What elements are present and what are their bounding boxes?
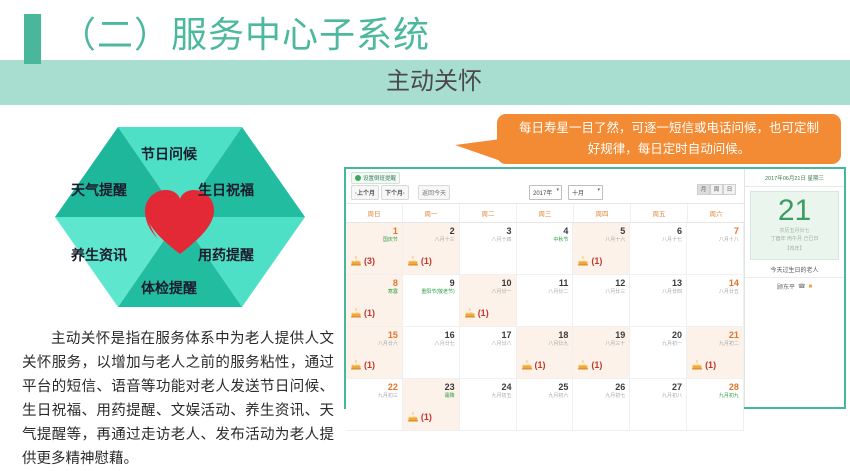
today-button[interactable]: 返回今天 xyxy=(418,185,450,200)
birthday-event[interactable]: (1) xyxy=(577,360,602,371)
birthday-count: (1) xyxy=(478,309,489,318)
day-number: 17 xyxy=(502,330,512,340)
calendar-day-cell[interactable]: 15八月廿六 (1) xyxy=(346,327,403,379)
calendar-day-cell[interactable]: 5八月十六 (1) xyxy=(573,223,630,275)
day-number: 8 xyxy=(393,278,398,288)
birthday-event[interactable]: (1) xyxy=(521,360,546,371)
calendar-day-cell[interactable]: 12八月廿三 xyxy=(573,275,630,327)
lunar-date-label: 寒露 xyxy=(388,289,398,295)
weekday-header-3: 周三 xyxy=(517,204,574,222)
callout-line-2: 好规律，每日定时自动问候。 xyxy=(511,139,827,160)
calendar-day-cell[interactable]: 16八月廿七 xyxy=(403,327,460,379)
lunar-date-label: 九月初五 xyxy=(492,393,512,399)
hex-label-weather-reminder: 天气提醒 xyxy=(71,180,127,200)
calendar-day-cell[interactable]: 28九月初九 xyxy=(687,379,744,431)
lunar-date-label: 霜降 xyxy=(445,393,455,399)
side-date-line: 2017年06月21日 星期三 xyxy=(745,169,844,187)
hex-label-checkup-reminder: 体检提醒 xyxy=(141,278,197,298)
birthday-count: (1) xyxy=(535,361,546,370)
day-number: 23 xyxy=(445,382,455,392)
birthday-count: (1) xyxy=(364,309,375,318)
day-number: 18 xyxy=(558,330,568,340)
calendar-day-cell[interactable]: 2八月十三 (1) xyxy=(403,223,460,275)
weekday-header-4: 周四 xyxy=(574,204,631,222)
calendar-day-cell[interactable]: 4中秋节 xyxy=(517,223,574,275)
cake-icon xyxy=(577,360,589,371)
birthday-event[interactable]: (3) xyxy=(350,256,375,267)
prev-month-button[interactable]: ·上个月 xyxy=(351,185,379,200)
weekday-header-row: 周日周一周二周三周四周五周六 xyxy=(346,203,744,223)
birthday-event[interactable]: (1) xyxy=(350,360,375,371)
view-week-button[interactable]: 周 xyxy=(710,184,723,195)
day-number: 7 xyxy=(734,226,739,236)
day-number: 14 xyxy=(729,278,739,288)
calendar-day-cell[interactable]: 22九月初三 xyxy=(346,379,403,431)
day-number: 25 xyxy=(558,382,568,392)
cake-icon xyxy=(350,360,362,371)
calendar-day-cell[interactable]: 20九月初一 xyxy=(630,327,687,379)
hex-label-birthday-wish: 生日祝福 xyxy=(198,180,254,200)
weekday-header-0: 周日 xyxy=(346,204,403,222)
weekday-header-5: 周五 xyxy=(631,204,688,222)
birthday-count: (1) xyxy=(364,361,375,370)
lunar-date-label: 八月十三 xyxy=(435,237,455,243)
body-paragraph: 主动关怀是指在服务体系中为老人提供人文关怀服务，以增加与老人之前的服务粘性，通过… xyxy=(22,327,334,471)
lunar-date-label: 九月初八 xyxy=(662,393,682,399)
calendar-day-cell[interactable]: 7八月十八 xyxy=(687,223,744,275)
lunar-date-label: 八月廿二 xyxy=(548,289,568,295)
weekday-header-2: 周二 xyxy=(460,204,517,222)
lunar-date-label: 八月十八 xyxy=(719,237,739,243)
year-select[interactable]: 2017年 xyxy=(529,185,562,200)
calendar-day-cell[interactable]: 13八月廿四 xyxy=(630,275,687,327)
day-number: 21 xyxy=(729,330,739,340)
day-number: 10 xyxy=(502,278,512,288)
page-subtitle: 主动关怀 xyxy=(386,64,482,100)
calendar-day-cell[interactable]: 9重阳节(敬老节) xyxy=(403,275,460,327)
day-number: 27 xyxy=(672,382,682,392)
shift-reminder-label: 设置倒班提醒 xyxy=(363,174,396,182)
hexagon-diagram: 节日问候 天气提醒 生日祝福 养生资讯 用药提醒 体检提醒 xyxy=(55,122,305,312)
cake-icon[interactable]: ■ xyxy=(808,284,812,290)
side-birthday-row[interactable]: 顾东平 ☎ ■ xyxy=(745,282,844,291)
cake-icon xyxy=(407,256,419,267)
lunar-date-label: 八月廿七 xyxy=(435,341,455,347)
lunar-date-label: 中秋节 xyxy=(553,237,568,243)
birthday-event[interactable]: (1) xyxy=(407,412,432,423)
lunar-date-label: 八月三十 xyxy=(605,341,625,347)
lunar-date-label: 八月廿三 xyxy=(605,289,625,295)
side-birthday-title: 今天过生日的老人 xyxy=(745,265,844,278)
calendar-day-cell[interactable]: 18八月廿九 (1) xyxy=(517,327,574,379)
calendar-day-cell[interactable]: 11八月廿二 xyxy=(517,275,574,327)
phone-icon[interactable]: ☎ xyxy=(798,283,805,290)
view-month-button[interactable]: 月 xyxy=(697,184,710,195)
day-number: 28 xyxy=(729,382,739,392)
calendar-day-cell[interactable]: 21九月初二 (1) xyxy=(687,327,744,379)
calendar-day-cell[interactable]: 1国庆节 (3) xyxy=(346,223,403,275)
cake-icon xyxy=(350,308,362,319)
lunar-date-label: 八月廿九 xyxy=(548,341,568,347)
calendar-day-cell[interactable]: 6八月十七 xyxy=(630,223,687,275)
hex-label-holiday-greeting: 节日问候 xyxy=(141,144,197,164)
lunar-date-label: 九月初一 xyxy=(662,341,682,347)
day-number: 9 xyxy=(450,278,455,288)
day-number: 19 xyxy=(615,330,625,340)
lunar-date-label: 八月十四 xyxy=(492,237,512,243)
side-lunar-line: 农历五月廿七 xyxy=(753,227,836,235)
calendar-day-cell[interactable]: 24九月初五 xyxy=(460,379,517,431)
calendar-day-grid: 1国庆节 (3)2八月十三 (1)3八月十四4中秋节5八月十六 (1)6八月十七… xyxy=(346,223,744,431)
hex-label-medication-reminder: 用药提醒 xyxy=(198,245,254,265)
calendar-day-cell[interactable]: 3八月十四 xyxy=(460,223,517,275)
side-today-box: 21 农历五月廿七 丁酉年 丙午月 己巳日 【鸡年】 xyxy=(750,191,839,260)
birthday-event[interactable]: (1) xyxy=(691,360,716,371)
calendar-main: 设置倒班提醒 ·上个月 下个月· 返回今天 2017年 十月 月 周 日 周日周… xyxy=(346,169,744,407)
day-number: 12 xyxy=(615,278,625,288)
lunar-date-label: 九月初九 xyxy=(719,393,739,399)
day-number: 3 xyxy=(507,226,512,236)
lunar-date-label: 国庆节 xyxy=(383,237,398,243)
lunar-date-label: 重阳节(敬老节) xyxy=(421,289,454,295)
day-number: 22 xyxy=(388,382,398,392)
day-number: 11 xyxy=(559,278,569,288)
birthday-event[interactable]: (1) xyxy=(407,256,432,267)
lunar-date-label: 九月初二 xyxy=(719,341,739,347)
callout-line-1: 每日寿星一目了然，可逐一短信或电话问候，也可定制 xyxy=(511,118,827,139)
lunar-date-label: 八月廿五 xyxy=(719,289,739,295)
cake-icon xyxy=(407,412,419,423)
birthday-event[interactable]: (1) xyxy=(350,308,375,319)
lunar-date-label: 九月初六 xyxy=(548,393,568,399)
calendar-day-cell[interactable]: 27九月初八 xyxy=(630,379,687,431)
calendar-side-panel: 2017年06月21日 星期三 21 农历五月廿七 丁酉年 丙午月 己巳日 【鸡… xyxy=(744,169,844,407)
weekday-header-1: 周一 xyxy=(403,204,460,222)
day-number: 4 xyxy=(563,226,568,236)
hex-label-health-info: 养生资讯 xyxy=(71,245,127,265)
callout-box: 每日寿星一目了然，可逐一短信或电话问候，也可定制 好规律，每日定时自动问候。 xyxy=(497,114,841,164)
day-number: 1 xyxy=(393,226,398,236)
day-number: 5 xyxy=(620,226,625,236)
calendar-toolbar: 设置倒班提醒 ·上个月 下个月· 返回今天 2017年 十月 月 周 日 xyxy=(346,169,744,203)
calendar-day-cell[interactable]: 19八月三十 (1) xyxy=(573,327,630,379)
calendar-day-cell[interactable]: 10八月廿一 (1) xyxy=(460,275,517,327)
lunar-date-label: 八月廿四 xyxy=(662,289,682,295)
calendar-day-cell[interactable]: 25九月初六 xyxy=(517,379,574,431)
calendar-screenshot: 设置倒班提醒 ·上个月 下个月· 返回今天 2017年 十月 月 周 日 周日周… xyxy=(344,167,846,409)
view-day-button[interactable]: 日 xyxy=(723,184,736,195)
day-number: 6 xyxy=(677,226,682,236)
lunar-date-label: 八月廿六 xyxy=(378,341,398,347)
side-birthday-name: 顾东平 xyxy=(777,282,795,291)
next-month-button[interactable]: 下个月· xyxy=(381,185,409,200)
lunar-date-label: 八月廿八 xyxy=(492,341,512,347)
side-ganzhi-line: 丁酉年 丙午月 己巳日 xyxy=(753,235,836,243)
day-number: 2 xyxy=(450,226,455,236)
cake-icon xyxy=(464,308,476,319)
birthday-count: (1) xyxy=(591,361,602,370)
birthday-count: (1) xyxy=(591,257,602,266)
page-title: （二）服务中心子系统 xyxy=(60,13,430,57)
birthday-count: (3) xyxy=(364,257,375,266)
lunar-date-label: 九月初三 xyxy=(378,393,398,399)
calendar-day-cell[interactable]: 17八月廿八 xyxy=(460,327,517,379)
title-accent-bar xyxy=(24,14,41,64)
day-number: 15 xyxy=(388,330,398,340)
callout-tail xyxy=(455,139,501,161)
plus-circle-icon xyxy=(355,175,361,181)
lunar-date-label: 八月十七 xyxy=(662,237,682,243)
calendar-day-cell[interactable]: 23霜降 (1) xyxy=(403,379,460,431)
birthday-count: (1) xyxy=(421,413,432,422)
day-number: 16 xyxy=(445,330,455,340)
cake-icon xyxy=(691,360,703,371)
lunar-date-label: 八月十六 xyxy=(605,237,625,243)
calendar-day-cell[interactable]: 26九月初七 xyxy=(573,379,630,431)
cake-icon xyxy=(350,256,362,267)
birthday-count: (1) xyxy=(705,361,716,370)
side-zodiac-line: 【鸡年】 xyxy=(753,245,836,254)
day-number: 20 xyxy=(672,330,682,340)
cake-icon xyxy=(521,360,533,371)
lunar-date-label: 九月初七 xyxy=(605,393,625,399)
calendar-day-cell[interactable]: 8寒露 (1) xyxy=(346,275,403,327)
birthday-event[interactable]: (1) xyxy=(464,308,489,319)
calendar-day-cell[interactable]: 14八月廿五 xyxy=(687,275,744,327)
cake-icon xyxy=(577,256,589,267)
day-number: 13 xyxy=(672,278,682,288)
month-select[interactable]: 十月 xyxy=(568,185,603,200)
side-big-day-number: 21 xyxy=(753,195,836,227)
day-number: 26 xyxy=(615,382,625,392)
day-number: 24 xyxy=(502,382,512,392)
birthday-count: (1) xyxy=(421,257,432,266)
shift-reminder-link[interactable]: 设置倒班提醒 xyxy=(351,172,400,184)
lunar-date-label: 八月廿一 xyxy=(492,289,512,295)
birthday-event[interactable]: (1) xyxy=(577,256,602,267)
weekday-header-6: 周六 xyxy=(688,204,744,222)
